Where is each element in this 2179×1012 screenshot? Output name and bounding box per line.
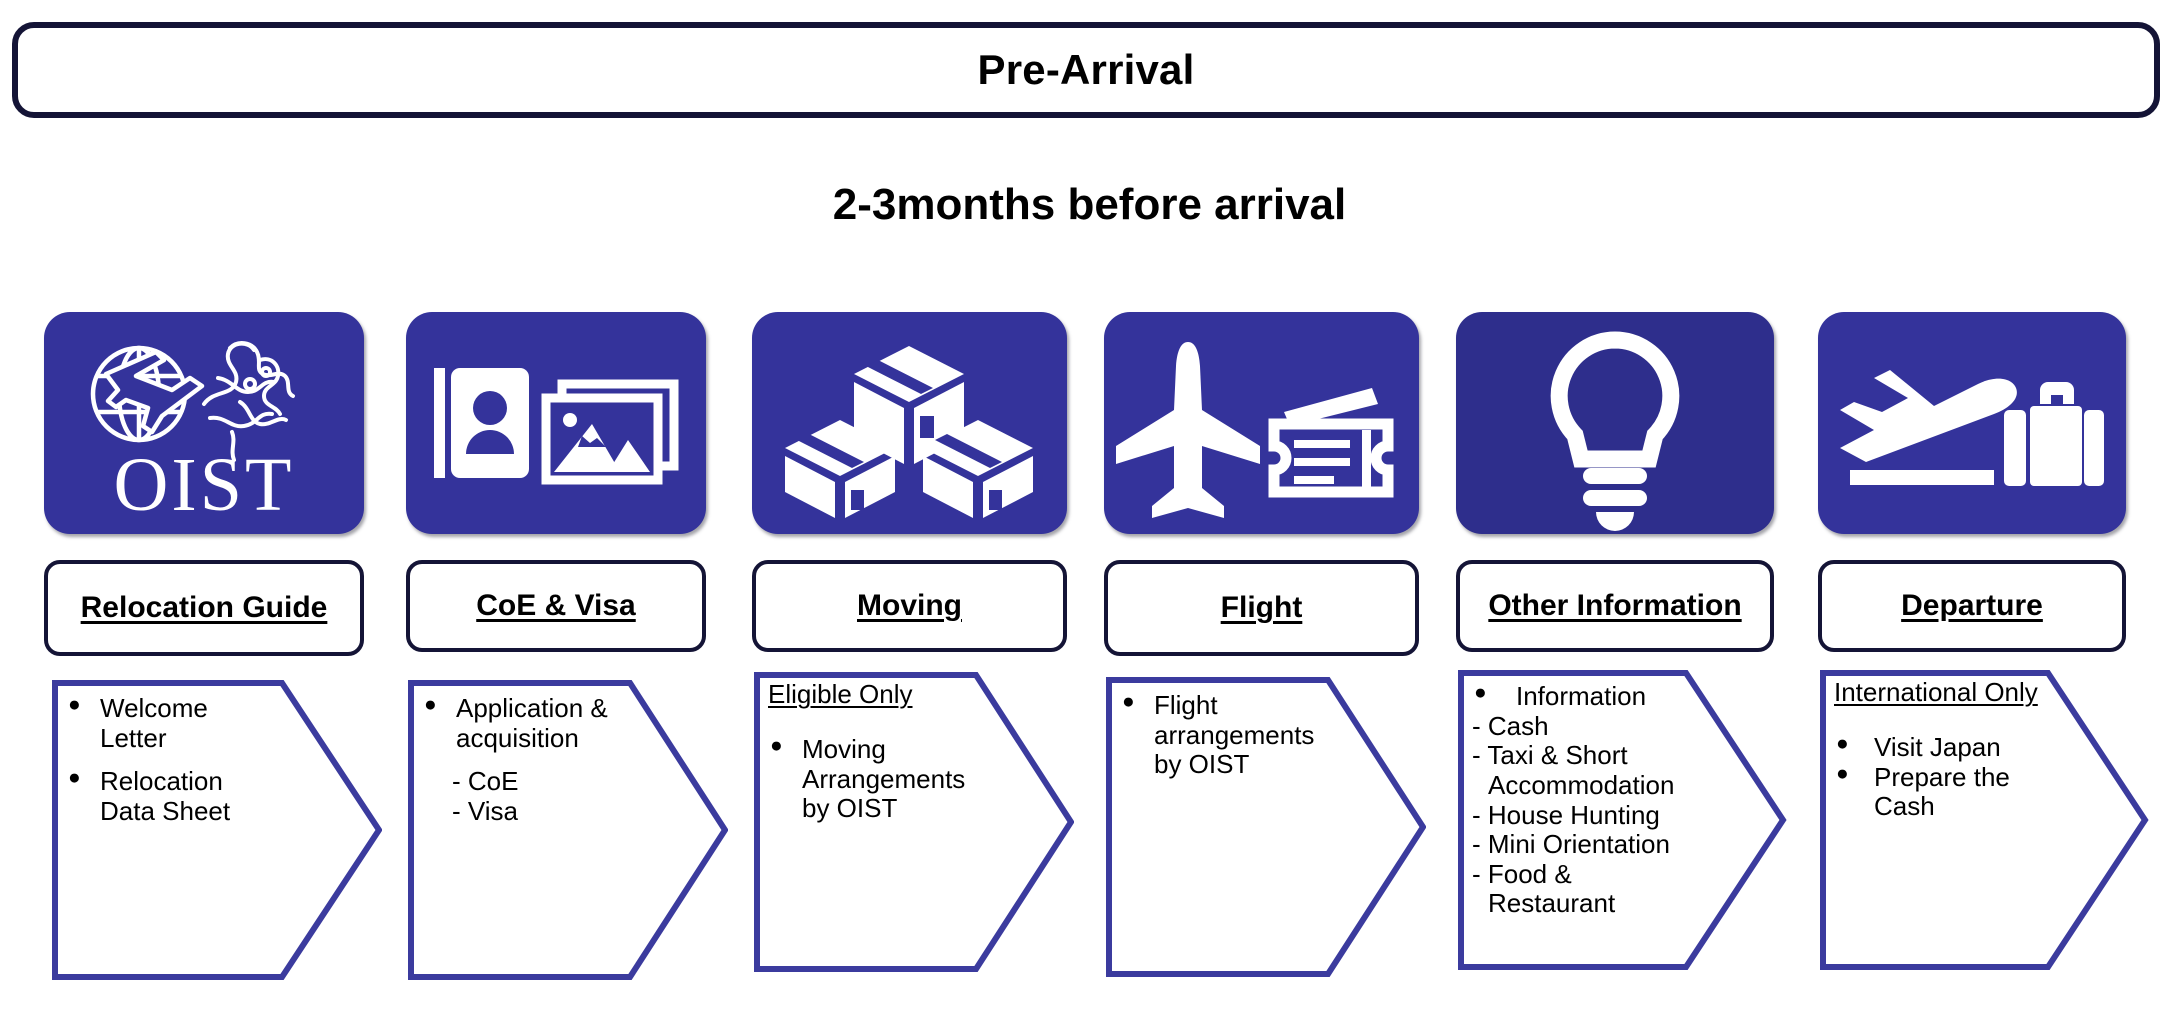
chevron-other-information[interactable]: Information - Cash - Taxi & Short Accomm… <box>1458 670 1788 970</box>
chip-coe-visa[interactable]: CoE & Visa <box>406 560 706 652</box>
list-item-line: Accommodation <box>1472 771 1674 801</box>
chevron-header: International Only <box>1834 678 2065 707</box>
list-item-line: Data Sheet <box>100 796 230 826</box>
list-item-line: - CoE <box>452 766 518 796</box>
passport-photo-icon <box>406 312 706 534</box>
pre-arrival-banner: Pre-Arrival <box>12 22 2160 118</box>
other-information-tile[interactable] <box>1456 312 1774 534</box>
list-item-line: Prepare the Cash <box>1874 762 2010 822</box>
list-item-line: Letter <box>100 723 167 753</box>
list-item-line: arrangements <box>1154 720 1314 750</box>
chip-label: Departure <box>1901 589 2043 623</box>
timeline-subtitle: 2-3months before arrival <box>0 180 2179 230</box>
list-item: - Mini Orientation <box>1472 830 1698 860</box>
list-item-line: Restaurant <box>1472 889 1615 919</box>
lightbulb-icon <box>1456 312 1774 534</box>
list-item-line: - Visa <box>452 796 518 826</box>
list-item-line: Visit Japan <box>1874 732 2001 762</box>
list-item: - Taxi & Short Accommodation <box>1472 741 1698 800</box>
list-item-line: - Food & <box>1472 859 1572 889</box>
chip-departure[interactable]: Departure <box>1818 560 2126 652</box>
airplane-ticket-icon <box>1104 312 1419 534</box>
chevron-relocation-guide[interactable]: Welcome Letter Relocation Data Sheet <box>52 680 382 980</box>
coe-visa-tile[interactable] <box>406 312 706 534</box>
list-item-line: Moving <box>802 734 886 764</box>
column-other-information: Other Information Information - Cash - T… <box>1456 312 1774 534</box>
list-item-line: by OIST <box>1154 749 1249 779</box>
chip-moving[interactable]: Moving <box>752 560 1067 652</box>
list-item: Moving Arrangements by OIST <box>768 735 984 824</box>
list-item: - Food & Restaurant <box>1472 860 1698 919</box>
chip-label: CoE & Visa <box>476 589 636 623</box>
list-item: Information <box>1472 682 1698 712</box>
list-item-line: acquisition <box>456 723 579 753</box>
moving-boxes-icon <box>752 312 1067 534</box>
list-item: Visit Japan <box>1834 733 2065 763</box>
list-item-line: - Taxi & Short <box>1472 740 1628 770</box>
relocation-guide-tile[interactable]: OIST <box>44 312 364 534</box>
list-item-line: - House Hunting <box>1472 800 1660 830</box>
oist-globe-airplane-logo-icon: OIST <box>44 312 364 534</box>
flight-tile[interactable] <box>1104 312 1419 534</box>
chip-label: Other Information <box>1488 589 1741 623</box>
list-item-line: - Mini Orientation <box>1472 829 1670 859</box>
chip-other-information[interactable]: Other Information <box>1456 560 1774 652</box>
list-item-line: Information <box>1516 681 1646 711</box>
svg-text:OIST: OIST <box>114 443 295 527</box>
list-item: Welcome Letter <box>66 694 292 753</box>
chevron-moving[interactable]: Eligible Only Moving Arrangements by OIS… <box>754 672 1074 972</box>
moving-tile[interactable] <box>752 312 1067 534</box>
list-item-line: Relocation <box>100 766 223 796</box>
list-item: Application & acquisition <box>422 694 638 753</box>
chip-flight[interactable]: Flight <box>1104 560 1419 656</box>
list-item-line: by OIST <box>802 793 897 823</box>
list-item: - CoE - Visa <box>422 767 638 826</box>
chevron-departure[interactable]: International Only Visit Japan Prepare t… <box>1820 670 2150 970</box>
chip-label: Moving <box>857 589 962 623</box>
list-item: Prepare the Cash <box>1834 763 2065 822</box>
column-flight: Flight Flight arrangements by OIST <box>1104 312 1419 534</box>
column-moving: Moving Eligible Only Moving Arrangements… <box>752 312 1067 534</box>
column-departure: Departure International Only Visit Japan… <box>1818 312 2126 534</box>
departure-tile[interactable] <box>1818 312 2126 534</box>
chevron-coe-visa[interactable]: Application & acquisition - CoE - Visa <box>408 680 728 980</box>
list-item-line: Flight <box>1154 690 1218 720</box>
page-title: Pre-Arrival <box>978 46 1195 94</box>
chip-label: Relocation Guide <box>81 591 328 625</box>
list-item: - House Hunting <box>1472 801 1698 831</box>
list-item-line: - Cash <box>1472 711 1549 741</box>
list-item-line: Application & <box>456 693 608 723</box>
column-relocation-guide: OIST Relocation Guide Welcome Letter Rel… <box>44 312 364 534</box>
chip-relocation-guide[interactable]: Relocation Guide <box>44 560 364 656</box>
list-item: - Cash <box>1472 712 1698 742</box>
stage-columns: OIST Relocation Guide Welcome Letter Rel… <box>0 312 2179 1012</box>
column-coe-visa: CoE & Visa Application & acquisition - C… <box>406 312 706 534</box>
list-item-line: Welcome <box>100 693 208 723</box>
departure-plane-suitcase-icon <box>1818 312 2126 534</box>
chip-label: Flight <box>1221 591 1303 625</box>
chevron-flight[interactable]: Flight arrangements by OIST <box>1106 677 1426 977</box>
chevron-header: Eligible Only <box>768 680 984 709</box>
list-item-line: Arrangements <box>802 764 965 794</box>
list-item: Flight arrangements by OIST <box>1120 691 1336 780</box>
list-item: Relocation Data Sheet <box>66 767 292 826</box>
